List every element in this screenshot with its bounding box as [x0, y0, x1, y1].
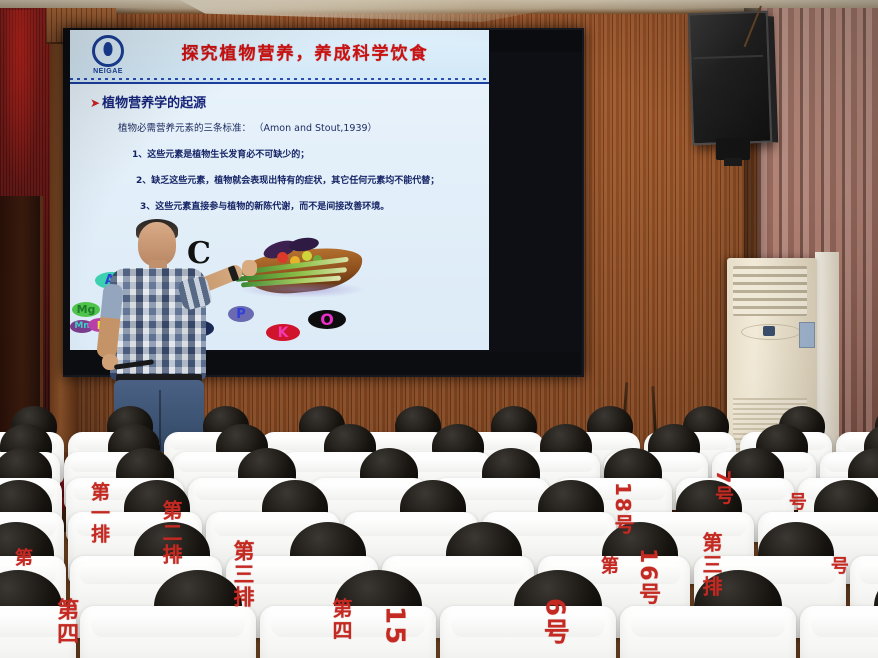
vegetable-shape	[277, 252, 288, 263]
maroon-panel-highlight	[6, 10, 40, 190]
chair-row-label: 18号	[612, 482, 633, 536]
white-chair-cover	[620, 606, 796, 658]
lecture-hall-photo: NEIGAE 探究植物营养，养成科学饮食 ➤植物营养学的起源 植物必需营养元素的…	[0, 0, 878, 658]
slide-point-3: 3、这些元素直接参与植物的新陈代谢，而不是间接改善环境。	[140, 199, 389, 212]
vegetable-shape	[302, 251, 312, 261]
chair-row-label: 第一排	[88, 482, 108, 545]
logo-circle-icon	[92, 35, 124, 67]
slide-header-divider	[70, 78, 489, 80]
neigae-logo: NEIGAE	[86, 35, 130, 77]
air-conditioner-display[interactable]	[799, 322, 815, 348]
slide-subheading: 植物必需营养元素的三条标准： （Amon and Stout,1939）	[118, 120, 478, 134]
element-bubble-o: O	[308, 310, 346, 329]
chair-row-label: 15	[380, 606, 407, 646]
chair-row-label: 7号	[712, 470, 732, 506]
chair-row-label: 第四	[54, 598, 77, 646]
wall-speaker-icon	[688, 11, 773, 146]
presenter-right-hand	[242, 260, 257, 276]
element-bubble-p: P	[228, 306, 254, 322]
chair-row-label: 第	[12, 548, 31, 568]
white-chair-cover	[80, 606, 256, 658]
basket-shadow	[237, 284, 367, 298]
slide-point-2: 2、缺乏这些元素，植物就会表现出特有的症状，其它任何元素均不能代替；	[136, 173, 439, 186]
slide-section-heading: ➤植物营养学的起源	[90, 92, 206, 111]
chair-row-label: 号	[786, 492, 805, 512]
air-conditioner-logo	[763, 326, 775, 336]
chair-row-label: 第四	[330, 598, 351, 642]
chair-row-label: 号	[828, 556, 847, 576]
speaker-grille-seam	[693, 55, 763, 59]
element-bubble-k: K	[266, 324, 300, 341]
logo-label: NEIGAE	[86, 68, 130, 75]
slide-point-1: 1、这些元素是植物生长发育必不可缺少的；	[132, 147, 309, 160]
chair-row-label: 16号	[636, 548, 659, 607]
white-chair-cover	[800, 606, 878, 658]
speaker-mount-bracket	[716, 138, 750, 160]
chair-row-label: 第三排	[232, 540, 254, 609]
bullet-arrow-icon: ➤	[90, 96, 100, 110]
slide-title: 探究植物营养，养成科学饮食	[140, 39, 470, 64]
white-chair-cover	[440, 606, 616, 658]
chair-row-label: 6号	[540, 598, 567, 646]
chair-row-label: 第二排	[160, 500, 181, 566]
air-conditioner-vents	[733, 266, 807, 316]
chair-row-label: 第	[598, 556, 617, 576]
chair-row-label: 第三排	[700, 532, 721, 598]
slide-section-heading-text: 植物营养学的起源	[102, 96, 206, 111]
